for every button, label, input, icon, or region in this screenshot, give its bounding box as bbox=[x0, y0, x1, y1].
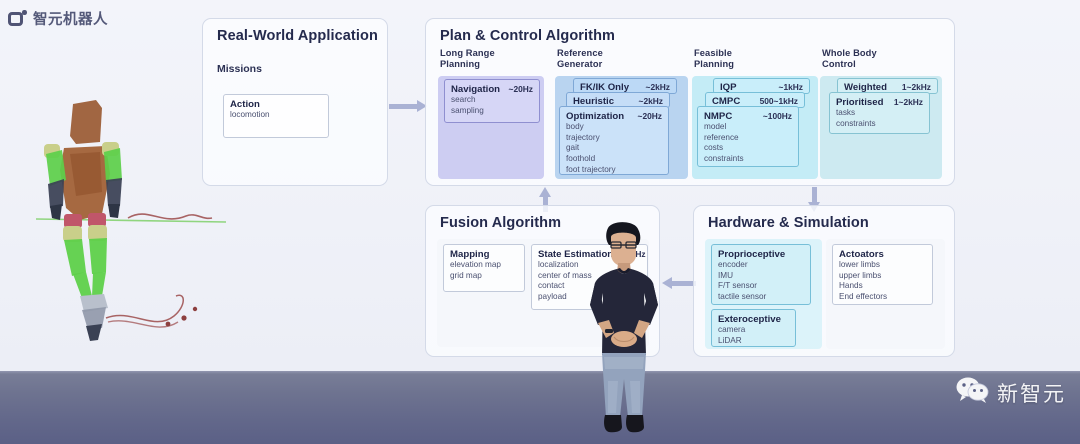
real-world-application-card: Real-World Application Missions Action l… bbox=[202, 18, 388, 186]
prioritised-item-tasks: tasks bbox=[836, 108, 923, 119]
mapping-item-elevation-map: elevation map bbox=[450, 260, 518, 271]
prioritised-item-constraints: constraints bbox=[836, 119, 923, 130]
optimization-item-gait: gait bbox=[566, 143, 662, 154]
exteroceptive-box: Exteroceptive camera LiDAR bbox=[711, 309, 796, 347]
optimization-item-foot-trajectory: foot trajectory bbox=[566, 165, 662, 176]
optimization-item-foothold: foothold bbox=[566, 154, 662, 165]
nmpc-item-reference: reference bbox=[704, 133, 792, 144]
stage-background: 智元机器人 bbox=[0, 0, 1080, 444]
fusion-algorithm-title: Fusion Algorithm bbox=[440, 215, 561, 231]
optimization-item-trajectory: trajectory bbox=[566, 133, 662, 144]
proprioceptive-item-ft-sensor: F/T sensor bbox=[718, 281, 804, 292]
column-heading-reference-generator: Reference Generator bbox=[557, 48, 603, 71]
proprioceptive-item-tactile-sensor: tactile sensor bbox=[718, 292, 804, 303]
wechat-icon bbox=[956, 377, 990, 409]
channel-watermark: 新智元 bbox=[956, 377, 1066, 409]
arrow-realworld-to-plan bbox=[389, 100, 427, 113]
prioritised-title: Prioritised bbox=[836, 97, 883, 108]
proprioceptive-box: Proprioceptive encoder IMU F/T sensor ta… bbox=[711, 244, 811, 305]
plan-control-title: Plan & Control Algorithm bbox=[440, 28, 615, 44]
column-heading-whole-body-control: Whole Body Control bbox=[822, 48, 877, 71]
presentation-slide: 智元机器人 bbox=[0, 0, 1080, 372]
action-box-title: Action bbox=[230, 99, 260, 110]
plan-control-algorithm-card: Plan & Control Algorithm Long Range Plan… bbox=[425, 18, 955, 186]
agibot-logo-icon bbox=[8, 11, 27, 26]
mapping-item-grid-map: grid map bbox=[450, 271, 518, 282]
nmpc-title: NMPC bbox=[704, 111, 732, 122]
actuators-item-lower-limbs: lower limbs bbox=[839, 260, 926, 271]
missions-label: Missions bbox=[217, 63, 262, 75]
hardware-simulation-title: Hardware & Simulation bbox=[708, 215, 869, 231]
brand-name: 智元机器人 bbox=[33, 8, 108, 29]
watermark-text: 新智元 bbox=[997, 378, 1066, 408]
real-world-title: Real-World Application bbox=[217, 28, 378, 44]
navigation-item-search: search bbox=[451, 95, 533, 106]
proprioceptive-item-encoder: encoder bbox=[718, 260, 804, 271]
column-heading-long-range-planning: Long Range Planning bbox=[440, 48, 495, 71]
weighted-hz: 1~2kHz bbox=[902, 82, 931, 92]
nmpc-hz: ~100Hz bbox=[763, 111, 792, 121]
actuators-box: Actoators lower limbs upper limbs Hands … bbox=[832, 244, 933, 305]
nmpc-item-costs: costs bbox=[704, 143, 792, 154]
action-item-locomotion: locomotion bbox=[230, 110, 322, 121]
presenter-svg bbox=[576, 221, 672, 444]
navigation-box: Navigation ~20Hz search sampling bbox=[444, 79, 540, 123]
proprioceptive-title: Proprioceptive bbox=[718, 249, 785, 260]
stage-floor bbox=[0, 371, 1080, 444]
nmpc-item-constraints: constraints bbox=[704, 154, 792, 165]
exteroceptive-item-camera: camera bbox=[718, 325, 789, 336]
fkik-only-hz: ~2kHz bbox=[646, 82, 670, 92]
exteroceptive-item-lidar: LiDAR bbox=[718, 336, 789, 347]
hardware-simulation-card: Hardware & Simulation Proprioceptive enc… bbox=[693, 205, 955, 357]
presenter-person bbox=[576, 221, 672, 444]
mapping-title: Mapping bbox=[450, 249, 489, 260]
actuators-item-end-effectors: End effectors bbox=[839, 292, 926, 303]
nmpc-box: NMPC ~100Hz model reference costs constr… bbox=[697, 106, 799, 167]
optimization-hz: ~20Hz bbox=[638, 111, 662, 121]
navigation-box-hz: ~20Hz bbox=[509, 84, 533, 94]
agibot-brand-logo: 智元机器人 bbox=[8, 8, 108, 29]
mapping-box: Mapping elevation map grid map bbox=[443, 244, 525, 292]
proprioceptive-item-imu: IMU bbox=[718, 271, 804, 282]
action-box: Action locomotion bbox=[223, 94, 329, 138]
heuristic-hz: ~2kHz bbox=[639, 96, 663, 106]
iqp-hz: ~1kHz bbox=[779, 82, 803, 92]
actuators-item-upper-limbs: upper limbs bbox=[839, 271, 926, 282]
robot-svg bbox=[36, 96, 226, 346]
actuators-item-hands: Hands bbox=[839, 281, 926, 292]
humanoid-robot-simulation-figure bbox=[36, 96, 226, 346]
cmpc-hz: 500~1kHz bbox=[760, 96, 798, 106]
prioritised-box: Prioritised 1~2kHz tasks constraints bbox=[829, 92, 930, 134]
navigation-box-title: Navigation bbox=[451, 84, 500, 95]
optimization-title: Optimization bbox=[566, 111, 624, 122]
column-heading-feasible-planning: Feasible Planning bbox=[694, 48, 734, 71]
exteroceptive-title: Exteroceptive bbox=[718, 314, 781, 325]
actuators-title: Actoators bbox=[839, 249, 884, 260]
nmpc-item-model: model bbox=[704, 122, 792, 133]
optimization-box: Optimization ~20Hz body trajectory gait … bbox=[559, 106, 669, 175]
prioritised-hz: 1~2kHz bbox=[894, 97, 923, 107]
optimization-item-body: body bbox=[566, 122, 662, 133]
navigation-item-sampling: sampling bbox=[451, 106, 533, 117]
